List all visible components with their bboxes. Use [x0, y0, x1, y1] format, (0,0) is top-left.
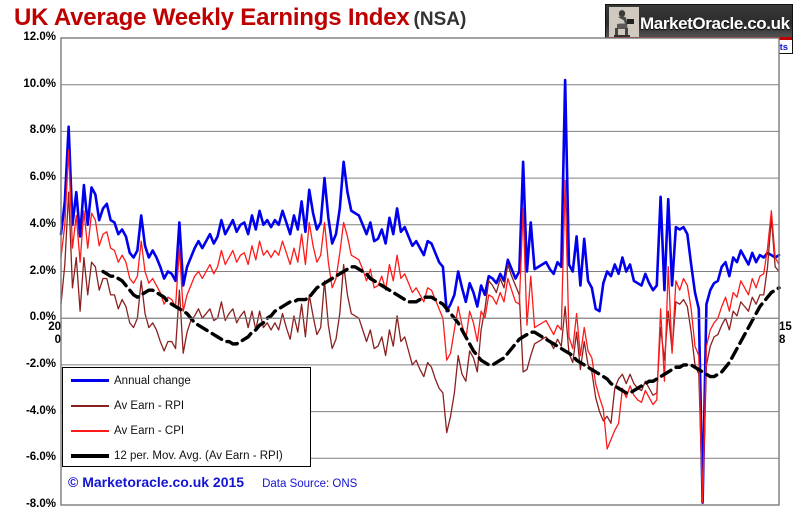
chart-legend: Annual changeAv Earn - RPIAv Earn - CPI1… — [62, 367, 311, 467]
legend-color-swatch — [71, 454, 109, 458]
legend-color-swatch — [71, 379, 109, 382]
legend-color-swatch — [71, 430, 109, 432]
legend-item[interactable]: Annual change — [63, 368, 310, 393]
legend-item-label: Annual change — [114, 375, 191, 387]
legend-item-label: Av Earn - RPI — [114, 400, 184, 412]
legend-item[interactable]: Av Earn - RPI — [63, 393, 310, 418]
legend-color-swatch — [71, 405, 109, 407]
footer-copyright: © Marketoracle.co.uk 2015 — [68, 474, 244, 490]
legend-item-label: 12 per. Mov. Avg. (Av Earn - RPI) — [114, 450, 283, 462]
footer-data-source: Data Source: ONS — [262, 478, 357, 490]
legend-item-label: Av Earn - CPI — [114, 425, 184, 437]
legend-item[interactable]: Av Earn - CPI — [63, 418, 310, 443]
chart-footer: © Marketoracle.co.uk 2015 Data Source: O… — [68, 474, 357, 490]
legend-item[interactable]: 12 per. Mov. Avg. (Av Earn - RPI) — [63, 443, 310, 468]
chart-container: UK Average Weekly Earnings Index(NSA) Ma… — [0, 0, 800, 515]
